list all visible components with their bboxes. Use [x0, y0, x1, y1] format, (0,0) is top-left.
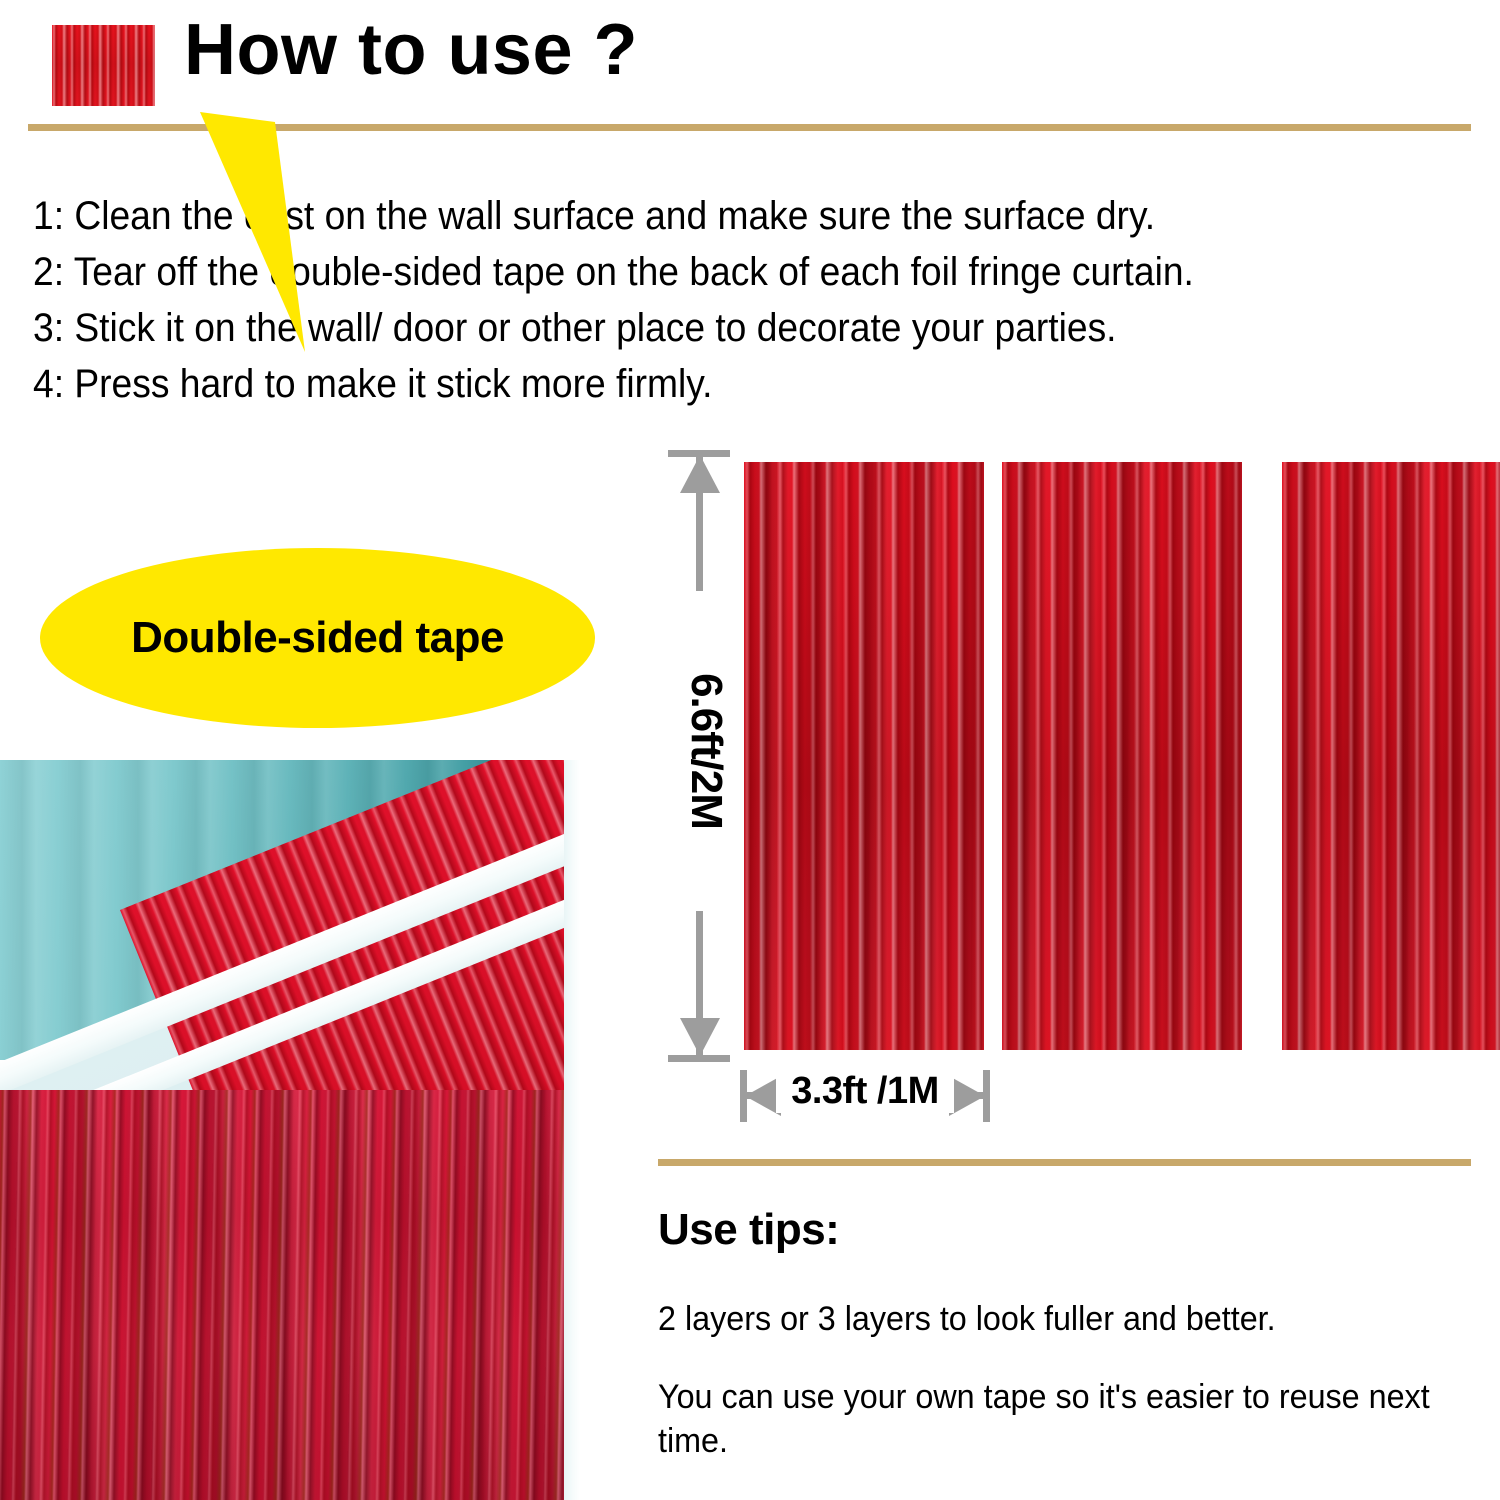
- double-sided-tape-callout: Double-sided tape: [40, 548, 595, 728]
- red-foil-swatch-icon: [52, 25, 155, 106]
- tips-divider: [658, 1159, 1471, 1166]
- width-dimension: 3.3ft /1M: [740, 1062, 990, 1132]
- callout-pointer: [0, 112, 400, 452]
- photo-wall-right-edge: [564, 760, 580, 1500]
- photo-fringe-strands: [0, 1090, 580, 1500]
- height-dimension: 6.6ft/2M: [664, 450, 738, 1062]
- page-title: How to use ?: [184, 14, 638, 86]
- width-dimension-label: 3.3ft /1M: [776, 1070, 954, 1113]
- use-tip-2: You can use your own tape so it's easier…: [658, 1375, 1437, 1463]
- height-dimension-cap-bottom: [668, 1055, 730, 1062]
- arrow-right-icon: [949, 1076, 985, 1116]
- foil-curtain-panel-1: [744, 462, 984, 1050]
- use-tip-1: 2 layers or 3 layers to look fuller and …: [658, 1297, 1437, 1341]
- foil-curtain-panel-2: [1002, 462, 1242, 1050]
- wall-installation-photo: [0, 760, 580, 1500]
- height-dimension-label: 6.6ft/2M: [675, 591, 737, 911]
- use-tips-section: Use tips: 2 layers or 3 layers to look f…: [658, 1205, 1478, 1497]
- arrow-up-icon: [680, 455, 720, 493]
- arrow-down-icon: [680, 1018, 720, 1056]
- product-dimension-figure: 6.6ft/2M 3.3ft /1M: [620, 440, 1500, 1140]
- callout-label: Double-sided tape: [40, 548, 595, 728]
- foil-curtain-panel-3: [1282, 462, 1500, 1050]
- use-tips-heading: Use tips:: [658, 1205, 1478, 1255]
